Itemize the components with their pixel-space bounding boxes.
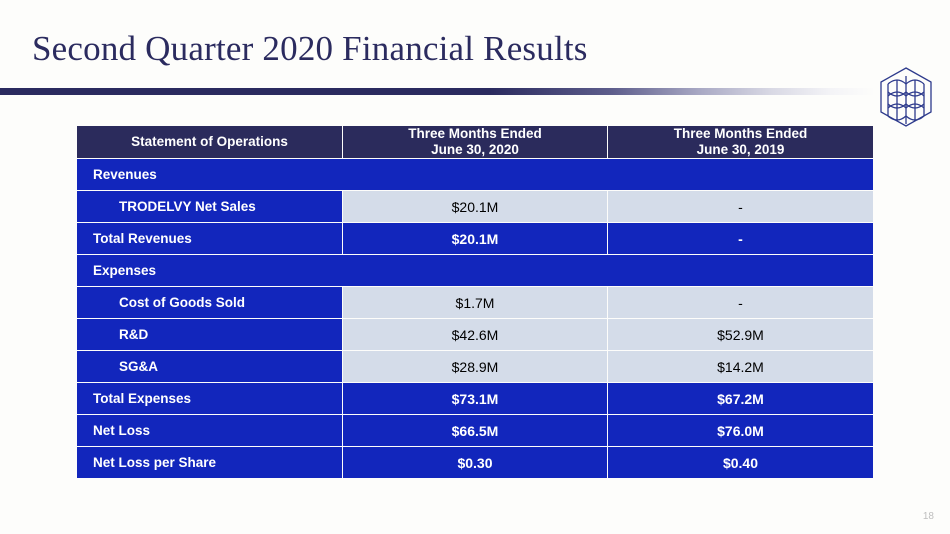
table-row: Cost of Goods Sold$1.7M- [77, 287, 874, 319]
cell-q2-2020: $73.1M [343, 383, 608, 415]
row-label: TRODELVY Net Sales [77, 191, 343, 223]
column-header-statement-label: Statement of Operations [131, 134, 288, 149]
table-row: Revenues [77, 159, 874, 191]
table-row: R&D$42.6M$52.9M [77, 319, 874, 351]
table-row: Total Expenses$73.1M$67.2M [77, 383, 874, 415]
cell-q2-2020: $42.6M [343, 319, 608, 351]
cell-q2-2019: $14.2M [608, 351, 874, 383]
section-row-label: Revenues [77, 159, 874, 191]
cell-q2-2019: - [608, 287, 874, 319]
column-header-q2-2020-line2: June 30, 2020 [353, 142, 597, 158]
column-header-q2-2019-line2: June 30, 2019 [618, 142, 863, 158]
column-header-statement: Statement of Operations [77, 126, 343, 159]
table-row: Expenses [77, 255, 874, 287]
cell-q2-2020: $66.5M [343, 415, 608, 447]
row-label: Total Expenses [77, 383, 343, 415]
column-header-q2-2019: Three Months Ended June 30, 2019 [608, 126, 874, 159]
table-row: Net Loss per Share$0.30$0.40 [77, 447, 874, 479]
column-header-q2-2020-line1: Three Months Ended [408, 126, 542, 141]
table-row: Net Loss$66.5M$76.0M [77, 415, 874, 447]
cell-q2-2020: $20.1M [343, 191, 608, 223]
row-label: R&D [77, 319, 343, 351]
cell-q2-2019: $0.40 [608, 447, 874, 479]
cell-q2-2020: $28.9M [343, 351, 608, 383]
row-label: Net Loss per Share [77, 447, 343, 479]
hexagon-lattice-logo [876, 66, 936, 128]
table-row: TRODELVY Net Sales$20.1M- [77, 191, 874, 223]
table-body: RevenuesTRODELVY Net Sales$20.1M-Total R… [77, 159, 874, 479]
row-label: Cost of Goods Sold [77, 287, 343, 319]
table-row: Total Revenues$20.1M- [77, 223, 874, 255]
cell-q2-2019: $76.0M [608, 415, 874, 447]
row-label: SG&A [77, 351, 343, 383]
row-label: Net Loss [77, 415, 343, 447]
row-label: Total Revenues [77, 223, 343, 255]
page-title: Second Quarter 2020 Financial Results [32, 27, 588, 71]
column-header-q2-2019-line1: Three Months Ended [674, 126, 808, 141]
cell-q2-2019: $52.9M [608, 319, 874, 351]
page-number: 18 [923, 511, 934, 522]
cell-q2-2019: - [608, 223, 874, 255]
table-row: SG&A$28.9M$14.2M [77, 351, 874, 383]
cell-q2-2020: $1.7M [343, 287, 608, 319]
cell-q2-2020: $0.30 [343, 447, 608, 479]
cell-q2-2019: - [608, 191, 874, 223]
cell-q2-2019: $67.2M [608, 383, 874, 415]
column-header-q2-2020: Three Months Ended June 30, 2020 [343, 126, 608, 159]
title-divider-rule [0, 88, 875, 95]
financial-results-table: Statement of Operations Three Months End… [76, 125, 874, 479]
cell-q2-2020: $20.1M [343, 223, 608, 255]
table-header-row: Statement of Operations Three Months End… [77, 126, 874, 159]
section-row-label: Expenses [77, 255, 874, 287]
